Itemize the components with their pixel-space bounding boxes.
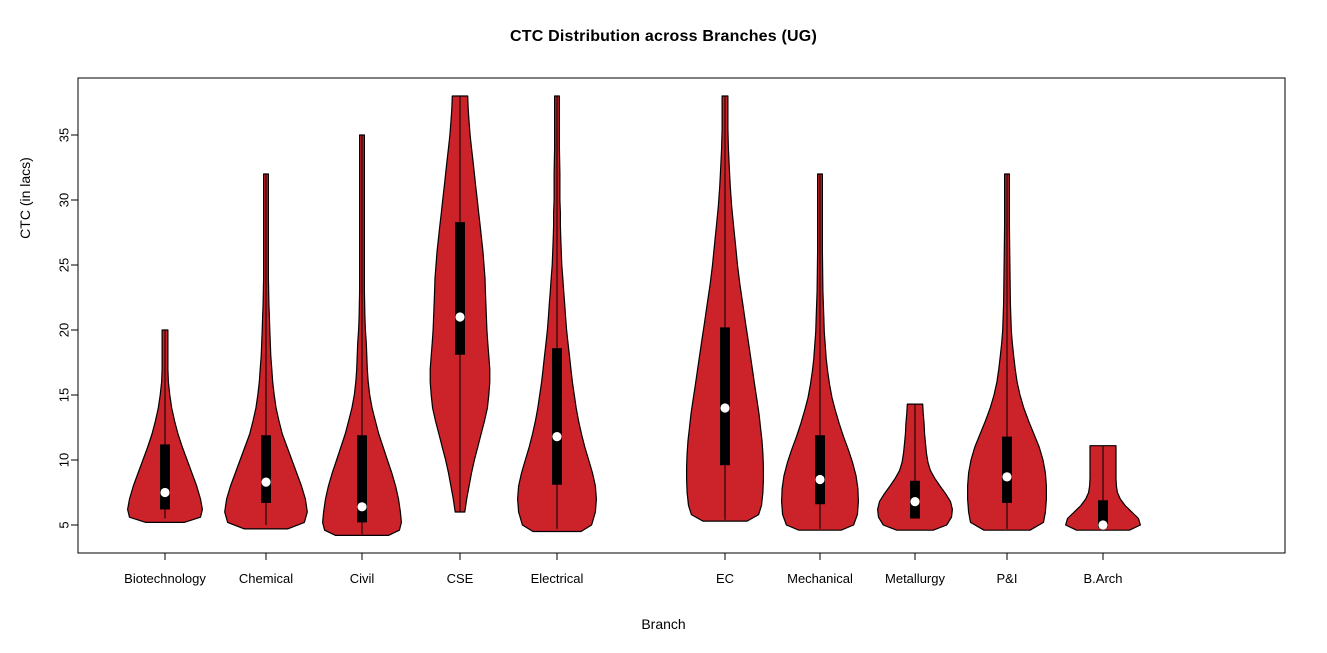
median-marker: [552, 432, 561, 441]
x-tick-label-biotechnology: Biotechnology: [124, 571, 206, 586]
x-tick-label-b-arch: B.Arch: [1083, 571, 1122, 586]
violin-cse: [430, 96, 490, 512]
violin-mechanical: [782, 174, 859, 530]
x-tick-label-electrical: Electrical: [531, 571, 584, 586]
median-marker: [910, 497, 919, 506]
median-marker: [160, 488, 169, 497]
violin-p-i: [968, 174, 1047, 530]
iqr-box: [455, 222, 465, 355]
violin-electrical: [518, 96, 597, 532]
violin-b-arch: [1066, 446, 1141, 531]
violin-chemical: [225, 174, 308, 529]
iqr-box: [720, 327, 730, 465]
median-marker: [357, 502, 366, 511]
x-tick-label-chemical: Chemical: [239, 571, 293, 586]
y-tick-label: 15: [57, 388, 72, 402]
x-tick-label-civil: Civil: [350, 571, 375, 586]
violin-ec: [687, 96, 764, 521]
plot-canvas: 5101520253035BiotechnologyChemicalCivilC…: [0, 0, 1327, 653]
y-tick-label: 25: [57, 258, 72, 272]
violin-civil: [323, 135, 402, 535]
iqr-box: [815, 435, 825, 504]
x-tick-label-cse: CSE: [447, 571, 474, 586]
violin-plot-figure: CTC Distribution across Branches (UG) CT…: [0, 0, 1327, 653]
median-marker: [1098, 520, 1107, 529]
x-tick-label-ec: EC: [716, 571, 734, 586]
median-marker: [720, 403, 729, 412]
median-marker: [815, 475, 824, 484]
iqr-box: [261, 435, 271, 503]
iqr-box: [160, 444, 170, 509]
x-tick-label-mechanical: Mechanical: [787, 571, 853, 586]
median-marker: [455, 312, 464, 321]
iqr-box: [1002, 437, 1012, 503]
y-tick-label: 20: [57, 323, 72, 337]
y-tick-label: 30: [57, 193, 72, 207]
violin-biotechnology: [128, 330, 203, 522]
x-tick-label-metallurgy: Metallurgy: [885, 571, 945, 586]
y-tick-label: 5: [57, 521, 72, 528]
median-marker: [261, 478, 270, 487]
y-tick-label: 10: [57, 453, 72, 467]
violin-metallurgy: [878, 404, 953, 530]
x-tick-label-p-i: P&I: [997, 571, 1018, 586]
y-tick-label: 35: [57, 128, 72, 142]
iqr-box: [552, 348, 562, 485]
median-marker: [1002, 472, 1011, 481]
